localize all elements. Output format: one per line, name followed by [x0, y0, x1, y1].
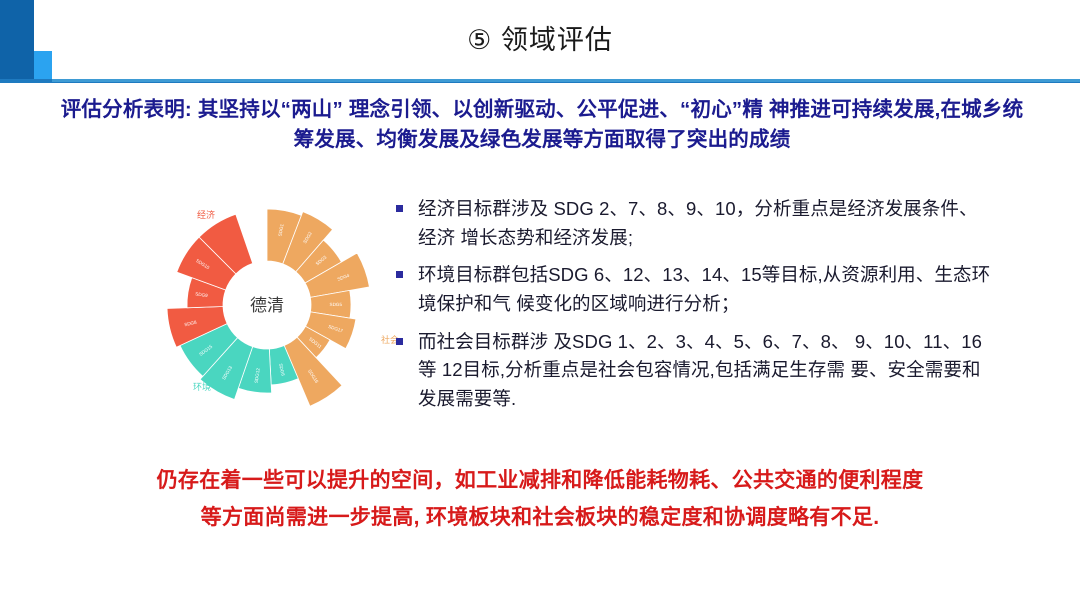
analysis-bullet-list: 经济目标群涉及 SDG 2、7、8、9、10，分析重点是经济发展条件、经济 增长… — [396, 195, 994, 423]
conclusion-line-1: 仍存在着一些可以提升的空间，如工业减排和降低能耗物耗、公共交通的便利程度 — [157, 469, 924, 492]
square-bullet-icon — [396, 338, 403, 345]
bullet-text-economy: 经济目标群涉及 SDG 2、7、8、9、10，分析重点是经济发展条件、经济 增长… — [418, 195, 994, 252]
sunburst-svg: SDG1SDG2SDG3SDG4SDG5SDG17SDG11SDG16SDG6S… — [135, 180, 420, 430]
conclusion-paragraph: 仍存在着一些可以提升的空间，如工业减排和降低能耗物耗、公共交通的便利程度 等方面… — [40, 462, 1040, 537]
header-divider-rule-soft — [52, 79, 1080, 82]
sunburst-chart: SDG1SDG2SDG3SDG4SDG5SDG17SDG11SDG16SDG6S… — [135, 180, 420, 430]
square-bullet-icon — [396, 205, 403, 212]
list-item: 环境目标群包括SDG 6、12、13、14、15等目标,从资源利用、生态环境保护… — [396, 261, 994, 318]
sunburst-segment-label: SDG5 — [330, 302, 343, 307]
square-bullet-icon — [396, 271, 403, 278]
sunburst-center-label: 德清 — [250, 296, 284, 315]
bullet-text-society: 而社会目标群涉 及SDG 1、2、3、4、5、6、7、8、 9、10、11、16… — [418, 328, 994, 414]
subtitle-paragraph: 评估分析表明: 其坚持以“两山” 理念引领、以创新驱动、公平促进、“初心”精 神… — [60, 95, 1024, 154]
conclusion-line-2: 等方面尚需进一步提高, 环境板块和社会板块的稳定度和协调度略有不足. — [40, 499, 1040, 536]
sunburst-category-label-经济: 经济 — [197, 209, 215, 220]
sunburst-category-label-环境: 环境 — [193, 381, 211, 392]
page-title: ⑤ 领域评估 — [0, 18, 1080, 57]
subtitle-line-1: 评估分析表明: 其坚持以“两山” 理念引领、以创新驱动、公平促进、“初心”精 — [61, 98, 763, 121]
list-item: 经济目标群涉及 SDG 2、7、8、9、10，分析重点是经济发展条件、经济 增长… — [396, 195, 994, 252]
list-item: 而社会目标群涉 及SDG 1、2、3、4、5、6、7、8、 9、10、11、16… — [396, 328, 994, 414]
bullet-text-environment: 环境目标群包括SDG 6、12、13、14、15等目标,从资源利用、生态环境保护… — [418, 261, 994, 318]
